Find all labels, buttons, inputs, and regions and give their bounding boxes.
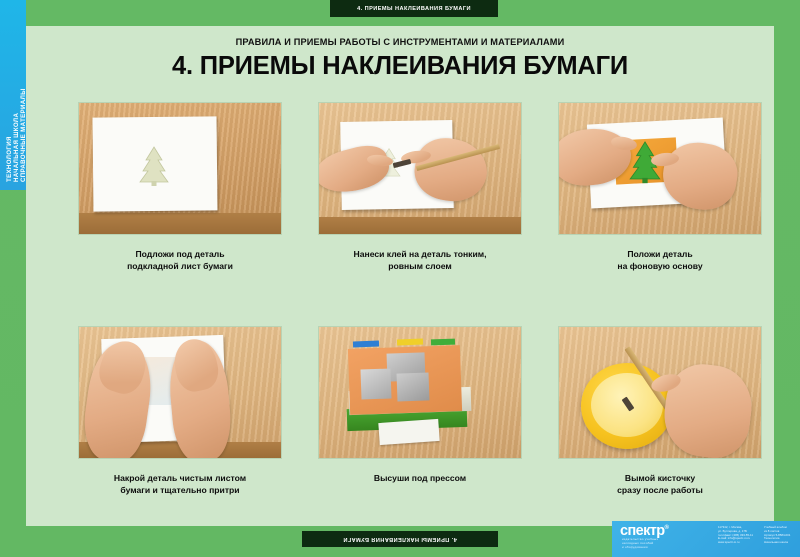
bookmark-green [431, 339, 455, 346]
header-tab: 4. ПРИЕМЫ НАКЛЕИВАНИЯ БУМАГИ [330, 0, 498, 17]
pale-paper-tree-shape [137, 145, 171, 187]
step-caption-4: Накрой деталь чистым листом бумаги и тща… [60, 472, 300, 496]
step-caption-5: Высуши под прессом [300, 472, 540, 484]
bookmark-yellow [397, 339, 423, 346]
step-caption-6: Вымой кисточку сразу после работы [540, 472, 780, 496]
photo-step-3-place-on-background [558, 102, 762, 235]
poster-title: 4. ПРИЕМЫ НАКЛЕИВАНИЯ БУМАГИ [26, 52, 774, 81]
table-edge [79, 213, 281, 234]
poster-page: ПРАВИЛА И ПРИЕМЫ РАБОТЫ С ИНСТРУМЕНТАМИ … [26, 26, 774, 526]
poster-root: 4. ПРИЕМЫ НАКЛЕИВАНИЯ БУМАГИ ТЕХНОЛОГИЯ … [0, 0, 800, 557]
footer-tab: 4. ПРИЕМЫ НАКЛЕИВАНИЯ БУМАГИ [302, 531, 498, 547]
photo-step-5-dry-under-press [318, 326, 522, 459]
footer-tab-label: 4. ПРИЕМЫ НАКЛЕИВАНИЯ БУМАГИ [343, 536, 457, 542]
steps-grid: Подложи под деталь подкладной лист бумаг… [26, 102, 774, 522]
photo-step-2-apply-glue [318, 102, 522, 235]
step-caption-3: Положи деталь на фоновую основу [540, 248, 780, 272]
step-caption-1: Подложи под деталь подкладной лист бумаг… [60, 248, 300, 272]
series-sidebar: ТЕХНОЛОГИЯ НАЧАЛЬНАЯ ШКОЛА СПРАВОЧНЫЕ МА… [0, 0, 26, 190]
photo-step-6-wash-brush [558, 326, 762, 459]
step-card-5: Высуши под прессом [300, 326, 540, 484]
photo-step-1-underlay-sheet [78, 102, 282, 235]
step-caption-2: Нанеси клей на деталь тонким, ровным сло… [300, 248, 540, 272]
header-tab-label: 4. ПРИЕМЫ НАКЛЕИВАНИЯ БУМАГИ [357, 6, 471, 12]
publisher-contact-column: 117342, г. Москва, ул. Бутлерова, д. 17Б… [718, 526, 762, 545]
step-card-3: Положи деталь на фоновую основу [540, 102, 780, 272]
table-edge [319, 217, 521, 234]
registered-trademark-icon: ® [665, 525, 669, 531]
step-card-1: Подложи под деталь подкладной лист бумаг… [60, 102, 300, 272]
book-illustration-3 [397, 372, 430, 401]
step-card-2: Нанеси клей на деталь тонким, ровным сло… [300, 102, 540, 272]
book-stack-white-paper [378, 419, 439, 445]
publisher-tagline: издательство учебных наглядных пособий и… [622, 538, 714, 550]
poster-subtitle: ПРАВИЛА И ПРИЕМЫ РАБОТЫ С ИНСТРУМЕНТАМИ … [26, 37, 774, 47]
photo-step-4-press-with-sheet [78, 326, 282, 459]
publisher-product-column: Учебный альбом из 8 листов Артикул 5-858… [764, 526, 800, 545]
step-card-6: Вымой кисточку сразу после работы [540, 326, 780, 496]
series-sidebar-labels: ТЕХНОЛОГИЯ НАЧАЛЬНАЯ ШКОЛА СПРАВОЧНЫЕ МА… [0, 0, 26, 190]
book-illustration-2 [360, 368, 391, 399]
publisher-logo-block: спектр® издательство учебных наглядных п… [612, 521, 800, 557]
bookmark-blue [353, 341, 379, 348]
step-card-4: Накрой деталь чистым листом бумаги и тща… [60, 326, 300, 496]
sidebar-label-kind: СПРАВОЧНЫЕ МАТЕРИАЛЫ [21, 88, 27, 182]
